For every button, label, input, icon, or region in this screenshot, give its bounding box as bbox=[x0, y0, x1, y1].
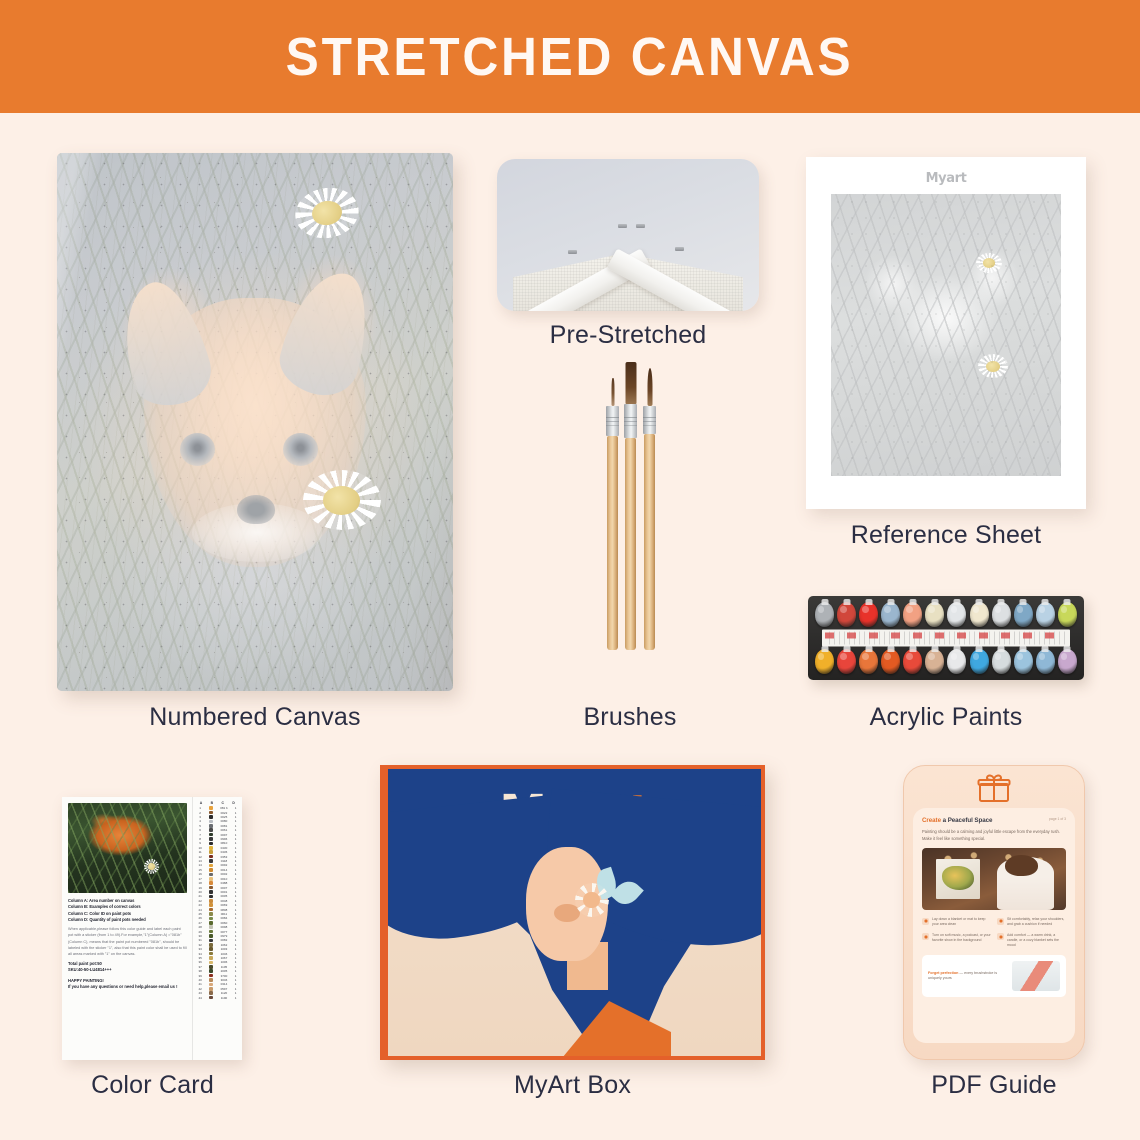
pdf-page-number: page 1 of 3 bbox=[1049, 817, 1066, 821]
cell-color-id: 0002 bbox=[217, 872, 231, 876]
cell-area-number: 11 bbox=[195, 850, 206, 854]
cell-area-number: 24 bbox=[195, 908, 206, 912]
brush-medium bbox=[644, 368, 655, 650]
pdf-photo bbox=[922, 848, 1066, 910]
myart-box-item[interactable]: Myart paint by numbers bbox=[380, 765, 765, 1060]
cell-color-id: 0353 bbox=[217, 855, 231, 859]
paint-pot bbox=[992, 649, 1011, 674]
pdf-tip-item: Sit comfortably, relax your shoulders, a… bbox=[997, 917, 1066, 928]
cell-area-number: 36 bbox=[195, 960, 206, 964]
cell-color-swatch bbox=[206, 908, 217, 912]
pdf-heading-accent: Create bbox=[922, 817, 941, 824]
tip-bullet-icon bbox=[922, 918, 929, 925]
cell-area-number: 42 bbox=[195, 987, 206, 991]
cell-color-id: 0001 bbox=[217, 890, 231, 894]
cell-quantity: 1 bbox=[231, 996, 240, 1000]
box-front-face: Myart paint by numbers bbox=[388, 769, 761, 1056]
easel-painting bbox=[936, 859, 979, 899]
paint-pot-row-top bbox=[815, 602, 1077, 627]
pdf-tips-grid: Lay down a blanket or mat to keep your a… bbox=[922, 917, 1066, 948]
cell-quantity: 1 bbox=[231, 855, 240, 859]
cell-area-number: 1 bbox=[195, 806, 206, 810]
cell-quantity: 1 bbox=[231, 908, 240, 912]
cell-area-number: 6 bbox=[195, 828, 206, 832]
pdf-tip-item: Turn on soft music, a podcast, or your f… bbox=[922, 933, 991, 949]
cell-quantity: 1 bbox=[231, 987, 240, 991]
cell-color-swatch bbox=[206, 991, 217, 995]
cell-area-number: 38 bbox=[195, 969, 206, 973]
cell-color-id: 0014 bbox=[217, 868, 231, 872]
cell-area-number: 26 bbox=[195, 916, 206, 920]
cell-color-swatch bbox=[206, 806, 217, 810]
cell-area-number: 22 bbox=[195, 899, 206, 903]
pdf-guide-item[interactable]: page 1 of 3 Create a Peaceful Space Pain… bbox=[903, 765, 1085, 1060]
cell-area-number: 44 bbox=[195, 996, 206, 1000]
reference-sheet-logo: Myart bbox=[806, 171, 1086, 186]
paint-pot bbox=[925, 602, 944, 627]
paint-pot bbox=[815, 602, 834, 627]
cell-color-swatch bbox=[206, 956, 217, 960]
cell-quantity: 1 bbox=[231, 846, 240, 850]
pdf-note-thumbnail bbox=[1012, 961, 1060, 991]
color-card-instructions: When applicable,please follow this color… bbox=[68, 926, 187, 956]
cell-color-swatch bbox=[206, 987, 217, 991]
cell-color-id: 1006 bbox=[217, 960, 231, 964]
cell-color-id: 0007 bbox=[217, 886, 231, 890]
cell-quantity: 1 bbox=[231, 833, 240, 837]
cell-quantity: 1 bbox=[231, 947, 240, 951]
paint-pot bbox=[970, 649, 989, 674]
cell-color-id: 1003 bbox=[217, 947, 231, 951]
cell-color-swatch bbox=[206, 969, 217, 973]
cell-color-id: 3046 bbox=[217, 978, 231, 982]
cell-quantity: 1 bbox=[231, 903, 240, 907]
cell-area-number: 31 bbox=[195, 938, 206, 942]
brushes-item[interactable] bbox=[589, 360, 671, 650]
acrylic-paints-label: Acrylic Paints bbox=[808, 703, 1084, 732]
paint-pot bbox=[1036, 649, 1055, 674]
cell-area-number: 2 bbox=[195, 811, 206, 815]
cell-area-number: 34 bbox=[195, 952, 206, 956]
cell-color-swatch bbox=[206, 921, 217, 925]
color-card-paper: Column A: Area number on canvas Column B… bbox=[62, 797, 242, 1060]
brush-handle bbox=[607, 436, 618, 650]
table-body: 1081 b1200221300251400801500811600611700… bbox=[195, 806, 240, 1000]
paint-pot bbox=[947, 602, 966, 627]
box-illustration bbox=[388, 872, 761, 1056]
cell-color-id: 0084 bbox=[217, 916, 231, 920]
pre-stretched-item[interactable] bbox=[497, 159, 759, 311]
reference-sheet-artwork bbox=[831, 194, 1061, 476]
cell-quantity: 1 bbox=[231, 886, 240, 890]
reference-sheet-label: Reference Sheet bbox=[806, 521, 1086, 550]
cell-color-id: 0060 bbox=[217, 921, 231, 925]
fox-nose bbox=[237, 495, 275, 525]
cell-color-swatch bbox=[206, 859, 217, 863]
cell-color-swatch bbox=[206, 947, 217, 951]
cell-quantity: 1 bbox=[231, 877, 240, 881]
tip-text: Sit comfortably, relax your shoulders, a… bbox=[1007, 917, 1066, 928]
cell-color-id: 0314 bbox=[217, 982, 231, 986]
cell-area-number: 23 bbox=[195, 903, 206, 907]
numbered-canvas-image bbox=[57, 153, 453, 691]
cell-area-number: 25 bbox=[195, 912, 206, 916]
cell-quantity: 1 bbox=[231, 881, 240, 885]
cell-color-id: 2005 bbox=[217, 969, 231, 973]
cell-quantity: 1 bbox=[231, 921, 240, 925]
cell-quantity: 1 bbox=[231, 841, 240, 845]
cell-area-number: 41 bbox=[195, 982, 206, 986]
cell-area-number: 28 bbox=[195, 925, 206, 929]
tip-bullet-icon bbox=[997, 933, 1004, 940]
cell-quantity: 1 bbox=[231, 859, 240, 863]
cell-quantity: 1 bbox=[231, 969, 240, 973]
cell-color-swatch bbox=[206, 837, 217, 841]
reference-sheet-item[interactable]: Myart bbox=[806, 157, 1086, 509]
cell-area-number: 14 bbox=[195, 863, 206, 867]
cell-quantity: 1 bbox=[231, 824, 240, 828]
cell-quantity: 1 bbox=[231, 894, 240, 898]
cell-color-swatch bbox=[206, 903, 217, 907]
cell-color-id: 0808 bbox=[217, 908, 231, 912]
contact-text: If you have any questions or need help,p… bbox=[68, 984, 187, 991]
pdf-note-bold: Forget perfection bbox=[928, 971, 958, 975]
person-painting bbox=[997, 857, 1055, 910]
cell-area-number: 3 bbox=[195, 815, 206, 819]
cell-color-id: 0097 bbox=[217, 833, 231, 837]
pdf-note-text: Forget perfection — every brushstroke is… bbox=[928, 971, 1007, 982]
cell-color-swatch bbox=[206, 895, 217, 899]
cell-color-id: 1105 bbox=[217, 965, 231, 969]
cell-quantity: 1 bbox=[231, 925, 240, 929]
cell-color-id: 0061 bbox=[217, 828, 231, 832]
color-card-text-block: Column A: Area number on canvas Column B… bbox=[68, 898, 187, 991]
cell-color-swatch bbox=[206, 974, 217, 978]
cell-color-id: 1062 bbox=[217, 943, 231, 947]
cell-area-number: 33 bbox=[195, 947, 206, 951]
gift-icon bbox=[977, 773, 1011, 808]
cell-color-swatch bbox=[206, 943, 217, 947]
fox-eye-right bbox=[283, 433, 319, 466]
paint-pot bbox=[837, 649, 856, 674]
staple-icon bbox=[675, 247, 684, 251]
tip-bullet-icon bbox=[997, 918, 1004, 925]
cell-quantity: 1 bbox=[231, 828, 240, 832]
cell-color-swatch bbox=[206, 934, 217, 938]
cell-area-number: 7 bbox=[195, 833, 206, 837]
paint-pot bbox=[1058, 602, 1077, 627]
pdf-tip-item: Add comfort — a warm drink, a candle, or… bbox=[997, 933, 1066, 949]
paint-pot bbox=[970, 602, 989, 627]
cell-area-number: 39 bbox=[195, 974, 206, 978]
pdf-subtitle: Painting should be a calming and joyful … bbox=[922, 829, 1066, 842]
cell-color-swatch bbox=[206, 877, 217, 881]
cell-color-id: 0488 bbox=[217, 881, 231, 885]
cell-area-number: 32 bbox=[195, 943, 206, 947]
brushes-label: Brushes bbox=[500, 703, 760, 732]
brush-bristles bbox=[611, 378, 614, 406]
brush-handle bbox=[644, 434, 655, 650]
cell-quantity: 1 bbox=[231, 934, 240, 938]
cell-quantity: 1 bbox=[231, 815, 240, 819]
product-grid: Numbered Canvas Pre-Stretched Myart bbox=[0, 113, 1140, 1140]
cell-color-id: 0005 bbox=[217, 894, 231, 898]
pdf-tip-item: Lay down a blanket or mat to keep your a… bbox=[922, 917, 991, 928]
cell-area-number: 5 bbox=[195, 824, 206, 828]
brush-flat bbox=[625, 362, 636, 650]
cell-color-id: 081 b bbox=[217, 806, 231, 810]
myart-box-label: MyArt Box bbox=[380, 1071, 765, 1100]
cell-color-id: 3700 bbox=[217, 974, 231, 978]
cell-area-number: 29 bbox=[195, 930, 206, 934]
cell-color-swatch bbox=[206, 864, 217, 868]
staple-icon bbox=[618, 224, 627, 228]
cell-color-id: 0069 bbox=[217, 903, 231, 907]
color-card-table: A B C D 1081 b12002213002514008015008116… bbox=[192, 797, 242, 1060]
cell-area-number: 20 bbox=[195, 890, 206, 894]
paint-pot bbox=[1014, 649, 1033, 674]
cell-color-id: 0430 bbox=[217, 846, 231, 850]
cell-color-swatch bbox=[206, 815, 217, 819]
paint-pot bbox=[837, 602, 856, 627]
color-card-item[interactable]: Column A: Area number on canvas Column B… bbox=[62, 797, 242, 1060]
staple-icon bbox=[636, 224, 645, 228]
paint-pot bbox=[881, 602, 900, 627]
paint-pot bbox=[903, 602, 922, 627]
cell-quantity: 1 bbox=[231, 868, 240, 872]
cell-quantity: 1 bbox=[231, 811, 240, 815]
cell-area-number: 43 bbox=[195, 991, 206, 995]
cell-quantity: 1 bbox=[231, 965, 240, 969]
cell-color-swatch bbox=[206, 925, 217, 929]
pdf-guide-device: page 1 of 3 Create a Peaceful Space Pain… bbox=[903, 765, 1085, 1060]
tip-text: Turn on soft music, a podcast, or your f… bbox=[932, 933, 991, 944]
pdf-note-card: Forget perfection — every brushstroke is… bbox=[922, 955, 1066, 997]
cell-color-swatch bbox=[206, 824, 217, 828]
cell-area-number: 19 bbox=[195, 886, 206, 890]
brush-thin bbox=[607, 378, 618, 650]
cell-color-id: 0010 bbox=[217, 877, 231, 881]
cell-area-number: 9 bbox=[195, 841, 206, 845]
cell-area-number: 16 bbox=[195, 872, 206, 876]
cell-quantity: 1 bbox=[231, 991, 240, 995]
cell-area-number: 37 bbox=[195, 965, 206, 969]
cell-color-id: 0022 bbox=[217, 811, 231, 815]
daisy-flower-icon bbox=[976, 253, 1002, 273]
paint-pot bbox=[1058, 649, 1077, 674]
cell-area-number: 27 bbox=[195, 921, 206, 925]
brush-ferrule bbox=[606, 406, 619, 436]
color-card-reference-photo bbox=[68, 803, 187, 893]
cell-area-number: 8 bbox=[195, 837, 206, 841]
cell-color-id: 0092 bbox=[217, 863, 231, 867]
brush-ferrule bbox=[624, 404, 637, 438]
cell-color-swatch bbox=[206, 842, 217, 846]
cell-quantity: 1 bbox=[231, 982, 240, 986]
cell-color-id: 0077 bbox=[217, 930, 231, 934]
cell-area-number: 12 bbox=[195, 855, 206, 859]
cell-area-number: 17 bbox=[195, 877, 206, 881]
tip-bullet-icon bbox=[922, 933, 929, 940]
cell-color-id: 0996 bbox=[217, 837, 231, 841]
cell-color-id: 1067 bbox=[217, 956, 231, 960]
col-header-a: A bbox=[196, 801, 207, 805]
cell-quantity: 1 bbox=[231, 930, 240, 934]
brush-bristles bbox=[647, 368, 652, 406]
legend-line-d: Column D: Quantity of paint pots needed bbox=[68, 917, 187, 923]
staple-icon bbox=[568, 250, 577, 254]
box-outer-edge: Myart paint by numbers bbox=[380, 765, 765, 1060]
cell-color-swatch bbox=[206, 939, 217, 943]
cell-color-swatch bbox=[206, 886, 217, 890]
cell-area-number: 13 bbox=[195, 859, 206, 863]
cell-quantity: 1 bbox=[231, 960, 240, 964]
cell-color-id: 0011 bbox=[217, 912, 231, 916]
col-header-c: C bbox=[217, 801, 228, 805]
cell-color-swatch bbox=[206, 965, 217, 969]
paint-pot bbox=[1014, 602, 1033, 627]
cell-area-number: 21 bbox=[195, 894, 206, 898]
acrylic-paints-item[interactable] bbox=[808, 596, 1084, 680]
cell-color-swatch bbox=[206, 828, 217, 832]
cell-area-number: 10 bbox=[195, 846, 206, 850]
cell-color-id: 0081 bbox=[217, 824, 231, 828]
cell-quantity: 1 bbox=[231, 890, 240, 894]
cell-quantity: 1 bbox=[231, 956, 240, 960]
cell-color-swatch bbox=[206, 961, 217, 965]
cell-color-id: 0048 bbox=[217, 899, 231, 903]
cell-color-swatch bbox=[206, 983, 217, 987]
cell-quantity: 1 bbox=[231, 943, 240, 947]
paint-tray-label-strip bbox=[822, 630, 1070, 647]
cell-color-swatch bbox=[206, 996, 217, 1000]
page-title: STRETCHED CANVAS bbox=[286, 26, 854, 88]
cell-area-number: 30 bbox=[195, 934, 206, 938]
table-row: 4411901 bbox=[195, 995, 240, 999]
cell-color-swatch bbox=[206, 833, 217, 837]
cell-quantity: 1 bbox=[231, 872, 240, 876]
cell-color-swatch bbox=[206, 855, 217, 859]
daisy-flower-icon bbox=[575, 883, 609, 917]
cell-color-swatch bbox=[206, 868, 217, 872]
cell-quantity: 1 bbox=[231, 978, 240, 982]
page-header: STRETCHED CANVAS bbox=[0, 0, 1140, 113]
numbered-canvas-label: Numbered Canvas bbox=[57, 703, 453, 732]
cell-color-id: 0436 bbox=[217, 850, 231, 854]
brush-handle bbox=[625, 438, 636, 650]
paint-pot bbox=[1036, 602, 1055, 627]
cell-area-number: 4 bbox=[195, 819, 206, 823]
sku-code: SKU:40-50-LU4814+++ bbox=[68, 967, 187, 974]
paint-pot bbox=[881, 649, 900, 674]
cell-quantity: 1 bbox=[231, 974, 240, 978]
cell-color-swatch bbox=[206, 930, 217, 934]
cell-color-swatch bbox=[206, 850, 217, 854]
paint-pot bbox=[815, 649, 834, 674]
cell-color-id: 0080 bbox=[217, 819, 231, 823]
cell-area-number: 15 bbox=[195, 868, 206, 872]
pdf-heading-rest: a Peaceful Space bbox=[941, 817, 992, 824]
cell-color-id: 0597 bbox=[217, 987, 231, 991]
tip-text: Add comfort — a warm drink, a candle, or… bbox=[1007, 933, 1066, 949]
cell-color-swatch bbox=[206, 899, 217, 903]
cell-color-swatch bbox=[206, 873, 217, 877]
reference-sheet-paper: Myart bbox=[806, 157, 1086, 509]
color-card-label: Color Card bbox=[20, 1071, 285, 1100]
cell-color-swatch bbox=[206, 811, 217, 815]
color-card-left-column: Column A: Area number on canvas Column B… bbox=[62, 797, 192, 1060]
cell-color-id: 0810 bbox=[217, 841, 231, 845]
pre-stretched-label: Pre-Stretched bbox=[497, 321, 759, 350]
brush-bristles bbox=[625, 362, 636, 404]
daisy-flower-icon bbox=[144, 859, 159, 874]
cell-quantity: 1 bbox=[231, 837, 240, 841]
cell-quantity: 1 bbox=[231, 819, 240, 823]
cell-color-swatch bbox=[206, 881, 217, 885]
cell-color-id: 0025 bbox=[217, 815, 231, 819]
cell-quantity: 1 bbox=[231, 899, 240, 903]
cell-color-id: 1190 bbox=[217, 996, 231, 1000]
col-header-d: D bbox=[228, 801, 239, 805]
cell-quantity: 1 bbox=[231, 863, 240, 867]
cell-color-id: 1046 bbox=[217, 952, 231, 956]
cell-color-id: 1120 bbox=[217, 991, 231, 995]
cell-area-number: 40 bbox=[195, 978, 206, 982]
pdf-guide-label: PDF Guide bbox=[903, 1071, 1085, 1100]
cell-color-swatch bbox=[206, 917, 217, 921]
paint-pot bbox=[859, 602, 878, 627]
cell-color-id: 0082 bbox=[217, 938, 231, 942]
daisy-flower-icon bbox=[303, 470, 381, 530]
cell-quantity: 1 bbox=[231, 916, 240, 920]
daisy-flower-icon bbox=[978, 354, 1008, 378]
paint-pot bbox=[925, 649, 944, 674]
pdf-page-content: page 1 of 3 Create a Peaceful Space Pain… bbox=[913, 808, 1075, 1043]
pdf-heading: Create a Peaceful Space bbox=[922, 817, 1066, 824]
paint-pot bbox=[992, 602, 1011, 627]
cell-color-swatch bbox=[206, 820, 217, 824]
cell-color-id: 0098 bbox=[217, 925, 231, 929]
cell-color-swatch bbox=[206, 890, 217, 894]
cell-quantity: 1 bbox=[231, 952, 240, 956]
paint-pot-row-bottom bbox=[815, 649, 1077, 674]
cell-color-swatch bbox=[206, 952, 217, 956]
pre-stretched-image bbox=[497, 159, 759, 311]
col-header-b: B bbox=[206, 801, 217, 805]
brush-ferrule bbox=[643, 406, 656, 434]
paint-pot bbox=[859, 649, 878, 674]
cell-quantity: 1 bbox=[231, 850, 240, 854]
cell-quantity: 1 bbox=[231, 938, 240, 942]
cell-color-id: 0118 bbox=[217, 859, 231, 863]
numbered-canvas-item[interactable] bbox=[57, 153, 453, 691]
cell-color-swatch bbox=[206, 978, 217, 982]
cell-color-swatch bbox=[206, 912, 217, 916]
cell-color-swatch bbox=[206, 846, 217, 850]
cell-quantity: 1 bbox=[231, 912, 240, 916]
cell-area-number: 18 bbox=[195, 881, 206, 885]
paint-pot bbox=[903, 649, 922, 674]
tip-text: Lay down a blanket or mat to keep your a… bbox=[932, 917, 991, 928]
paint-tray bbox=[808, 596, 1084, 680]
cell-area-number: 35 bbox=[195, 956, 206, 960]
cell-quantity: 1 bbox=[231, 806, 240, 810]
cell-color-id: 0979 bbox=[217, 934, 231, 938]
paint-pot bbox=[947, 649, 966, 674]
